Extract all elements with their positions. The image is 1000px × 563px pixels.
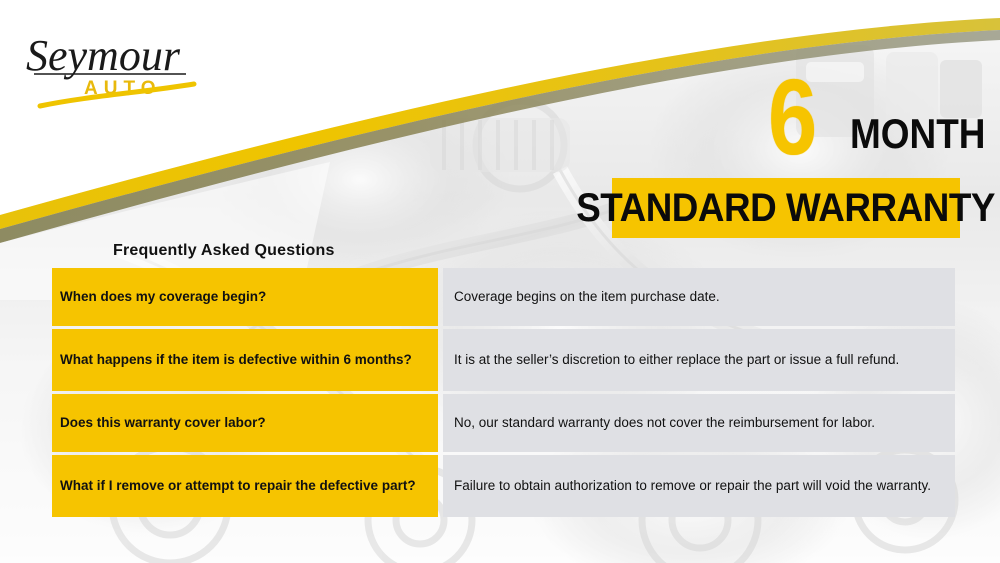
duration-headline: 6 MONTH [742, 48, 972, 163]
standard-warranty-banner: STANDARD WARRANTY [612, 178, 960, 238]
duration-number: 6 [768, 63, 816, 171]
faq-question-cell: Does this warranty cover labor? [52, 394, 438, 452]
faq-table: When does my coverage begin? Coverage be… [52, 268, 955, 517]
faq-answer-cell: No, our standard warranty does not cover… [443, 394, 955, 452]
table-row: What if I remove or attempt to repair th… [52, 455, 955, 517]
standard-warranty-text: STANDARD WARRANTY [577, 188, 996, 228]
table-row: When does my coverage begin? Coverage be… [52, 268, 955, 326]
faq-question-cell: When does my coverage begin? [52, 268, 438, 326]
duration-unit: MONTH [850, 113, 986, 155]
warranty-slide: Seymour AUTO 6 MONTH STANDARD WARRANTY F… [0, 0, 1000, 563]
faq-question-cell: What happens if the item is defective wi… [52, 329, 438, 391]
seymour-auto-logo: Seymour AUTO [18, 18, 218, 110]
logo-wordmark-script: Seymour [26, 31, 181, 80]
faq-question-cell: What if I remove or attempt to repair th… [52, 455, 438, 517]
faq-answer-cell: It is at the seller’s discretion to eith… [443, 329, 955, 391]
faq-heading: Frequently Asked Questions [113, 242, 335, 260]
faq-answer-cell: Coverage begins on the item purchase dat… [443, 268, 955, 326]
faq-answer-cell: Failure to obtain authorization to remov… [443, 455, 955, 517]
table-row: What happens if the item is defective wi… [52, 329, 955, 391]
table-row: Does this warranty cover labor? No, our … [52, 394, 955, 452]
